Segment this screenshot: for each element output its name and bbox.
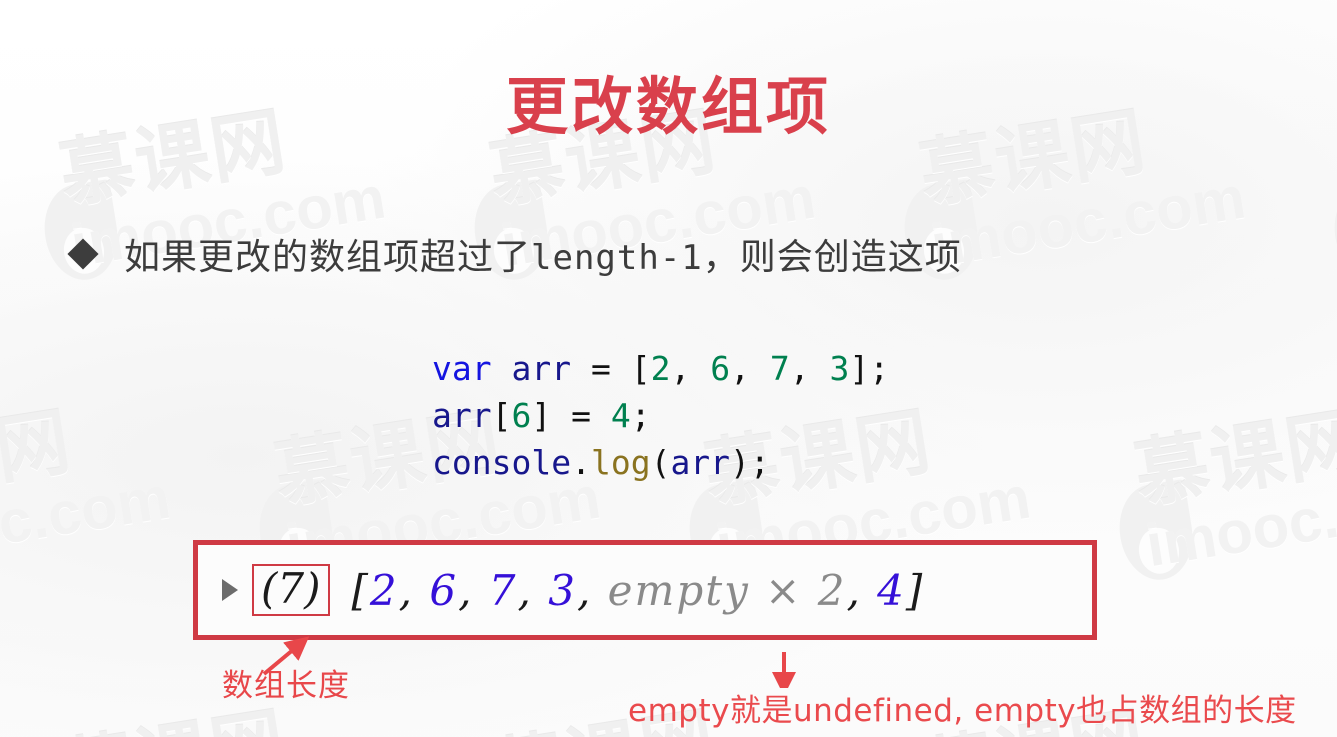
annotation-empty-explanation: empty就是undefined, empty也占数组的长度 (628, 685, 1297, 730)
console-array-token: empty × 2 (608, 566, 847, 615)
bullet-text-after: ，则会创造这项 (703, 237, 962, 278)
code-token: 6 (710, 349, 730, 388)
code-token: ; (631, 396, 651, 435)
code-token: 7 (770, 349, 790, 388)
console-array-value: [2, 6, 7, 3, empty × 2, 4] (352, 566, 925, 615)
code-token: arr (511, 349, 571, 388)
diamond-bullet-icon (67, 238, 98, 269)
console-array-token: 6 (429, 566, 458, 615)
code-token: , (730, 349, 770, 388)
code-token: ( (651, 443, 671, 482)
watermark-tile: 慕课网imooc.com (1130, 390, 1337, 576)
console-array-token: [ (352, 566, 370, 615)
bullet-inline-code: length-1 (531, 238, 703, 278)
array-length-badge: (7) (252, 564, 330, 616)
code-line: var arr = [2, 6, 7, 3]; (432, 345, 889, 392)
watermark-main-text: 慕课网 (0, 390, 164, 513)
watermark-sub-text: imooc.com (0, 467, 174, 576)
console-array-token: 3 (548, 566, 577, 615)
bullet-row: 如果更改的数组项超过了length-1，则会创造这项 (72, 228, 962, 280)
code-token: 6 (511, 396, 531, 435)
code-token: . (571, 443, 591, 482)
code-block: var arr = [2, 6, 7, 3];arr[6] = 4;consol… (432, 345, 889, 486)
watermark-tile: 慕课网imooc.com (0, 390, 174, 576)
watermark-flame-icon (1328, 179, 1337, 285)
code-token: , (790, 349, 830, 388)
code-token: arr (432, 396, 492, 435)
console-output-box: (7) [2, 6, 7, 3, empty × 2, 4] (193, 540, 1097, 640)
console-array-token: ] (906, 566, 924, 615)
code-token: 2 (651, 349, 671, 388)
code-token: [ (492, 396, 512, 435)
console-array-token: , (399, 566, 430, 615)
code-token: = (571, 349, 631, 388)
code-token: console (432, 443, 571, 482)
code-line: arr[6] = 4; (432, 392, 889, 439)
console-array-token: , (846, 566, 877, 615)
arrow-down-icon (770, 646, 798, 688)
code-token: ] = (531, 396, 610, 435)
code-token: 4 (611, 396, 631, 435)
code-token: ]; (849, 349, 889, 388)
watermark-sub-text: imooc.com (927, 167, 1249, 276)
console-array-token: 7 (489, 566, 518, 615)
console-array-token: 2 (370, 566, 399, 615)
code-token: ); (730, 443, 770, 482)
code-token: arr (670, 443, 730, 482)
console-array-token: 4 (877, 566, 906, 615)
slide-canvas: 慕课网imooc.com慕课网imooc.com慕课网imooc.com慕课网i… (0, 0, 1337, 737)
console-array-token: , (518, 566, 549, 615)
console-array-token: , (458, 566, 489, 615)
code-token: 3 (829, 349, 849, 388)
bullet-text-before: 如果更改的数组项超过了 (124, 237, 531, 278)
watermark-sub-text: imooc.com (1142, 467, 1337, 576)
code-token: [ (631, 349, 651, 388)
bullet-text: 如果更改的数组项超过了length-1，则会创造这项 (124, 228, 962, 280)
code-token (492, 349, 512, 388)
annotation-array-length: 数组长度 (222, 660, 350, 705)
page-title: 更改数组项 (0, 56, 1337, 146)
code-token: var (432, 349, 492, 388)
watermark-main-text: 慕课网 (1130, 390, 1337, 513)
code-token: log (591, 443, 651, 482)
code-token: , (670, 349, 710, 388)
watermark-flame-icon (1113, 479, 1199, 585)
disclosure-triangle-icon[interactable] (222, 579, 238, 601)
code-line: console.log(arr); (432, 439, 889, 486)
console-array-token: , (577, 566, 608, 615)
